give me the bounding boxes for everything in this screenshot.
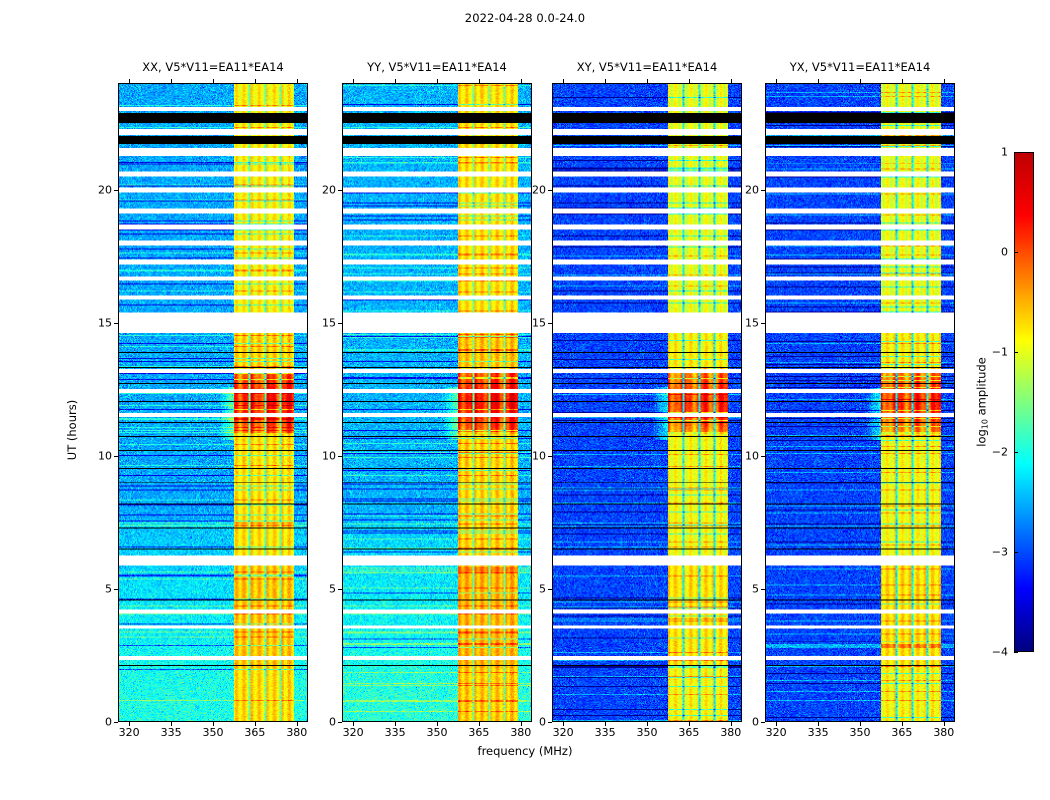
- y-tick-label: 0: [520, 716, 546, 729]
- x-tick-mark-top: [479, 79, 480, 83]
- y-tick-mark: [114, 589, 118, 590]
- y-tick-label: 0: [310, 716, 336, 729]
- y-tick-mark: [548, 722, 552, 723]
- x-tick-label: 335: [595, 726, 616, 739]
- y-tick-label: 5: [86, 582, 112, 595]
- colorbar-label-sub: 10: [981, 419, 990, 429]
- x-tick-mark: [353, 722, 354, 726]
- colorbar-tick-label: −2: [982, 446, 1008, 459]
- x-tick-mark-top: [818, 79, 819, 83]
- y-tick-mark: [548, 589, 552, 590]
- y-tick-mark: [548, 456, 552, 457]
- x-tick-label: 320: [119, 726, 140, 739]
- x-tick-mark: [297, 722, 298, 726]
- x-tick-label: 365: [244, 726, 265, 739]
- y-tick-mark: [761, 722, 765, 723]
- x-tick-label: 350: [203, 726, 224, 739]
- x-tick-mark-top: [647, 79, 648, 83]
- colorbar-tick-mark: [1014, 652, 1018, 653]
- x-tick-mark-top: [521, 79, 522, 83]
- x-tick-label: 350: [427, 726, 448, 739]
- x-tick-mark: [213, 722, 214, 726]
- x-tick-label: 350: [850, 726, 871, 739]
- y-tick-label: 0: [733, 716, 759, 729]
- x-tick-mark: [731, 722, 732, 726]
- x-tick-mark-top: [255, 79, 256, 83]
- x-tick-mark-top: [563, 79, 564, 83]
- x-tick-mark: [902, 722, 903, 726]
- y-tick-mark: [761, 190, 765, 191]
- colorbar-tick-mark: [1014, 152, 1018, 153]
- y-tick-label: 20: [733, 183, 759, 196]
- colorbar-label: log10 amplitude: [975, 357, 990, 447]
- colorbar-tick-mark: [1014, 552, 1018, 553]
- y-tick-mark: [761, 323, 765, 324]
- x-tick-mark-top: [605, 79, 606, 83]
- colorbar-tick-label: −1: [982, 346, 1008, 359]
- y-tick-mark: [338, 456, 342, 457]
- y-tick-mark: [548, 323, 552, 324]
- y-tick-label: 5: [520, 582, 546, 595]
- x-tick-mark-top: [776, 79, 777, 83]
- x-tick-mark-top: [297, 79, 298, 83]
- figure-canvas: 2022-04-28 0.0-24.0 XX, V5*V11=EA11*EA14…: [0, 0, 1050, 800]
- colorbar-tick-label: 1: [982, 146, 1008, 159]
- panel-title-yy: YY, V5*V11=EA11*EA14: [342, 60, 532, 74]
- y-tick-label: 5: [310, 582, 336, 595]
- y-tick-label: 15: [86, 316, 112, 329]
- y-tick-mark: [761, 589, 765, 590]
- panel-title-yx: YX, V5*V11=EA11*EA14: [765, 60, 955, 74]
- heatmap-panel-yx: [765, 83, 955, 722]
- y-tick-label: 10: [86, 449, 112, 462]
- colorbar-tick-label: −3: [982, 546, 1008, 559]
- x-tick-mark-top: [129, 79, 130, 83]
- x-tick-mark: [479, 722, 480, 726]
- x-tick-mark-top: [213, 79, 214, 83]
- x-tick-mark: [647, 722, 648, 726]
- colorbar-tick-label: 0: [982, 246, 1008, 259]
- x-tick-label: 380: [286, 726, 307, 739]
- x-tick-label: 380: [933, 726, 954, 739]
- x-tick-mark: [129, 722, 130, 726]
- y-tick-label: 5: [733, 582, 759, 595]
- y-tick-label: 10: [520, 449, 546, 462]
- x-tick-mark-top: [731, 79, 732, 83]
- y-tick-label: 0: [86, 716, 112, 729]
- colorbar-tick-mark: [1014, 352, 1018, 353]
- y-tick-mark: [338, 190, 342, 191]
- y-tick-mark: [338, 722, 342, 723]
- x-tick-mark-top: [437, 79, 438, 83]
- x-tick-mark: [255, 722, 256, 726]
- y-tick-label: 20: [520, 183, 546, 196]
- y-tick-label: 20: [86, 183, 112, 196]
- x-tick-mark-top: [171, 79, 172, 83]
- heatmap-panel-yy: [342, 83, 532, 722]
- x-tick-label: 335: [161, 726, 182, 739]
- x-tick-label: 350: [637, 726, 658, 739]
- y-tick-mark: [548, 190, 552, 191]
- x-tick-mark: [605, 722, 606, 726]
- y-tick-mark: [114, 722, 118, 723]
- figure-suptitle: 2022-04-28 0.0-24.0: [0, 11, 1050, 25]
- x-axis-label: frequency (MHz): [0, 744, 1050, 758]
- colorbar-tick-label: −4: [982, 646, 1008, 659]
- panel-title-xx: XX, V5*V11=EA11*EA14: [118, 60, 308, 74]
- y-tick-mark: [761, 456, 765, 457]
- y-tick-mark: [114, 456, 118, 457]
- x-tick-mark-top: [689, 79, 690, 83]
- x-tick-mark: [944, 722, 945, 726]
- x-tick-label: 320: [553, 726, 574, 739]
- x-tick-mark: [860, 722, 861, 726]
- x-tick-label: 335: [808, 726, 829, 739]
- y-tick-label: 10: [733, 449, 759, 462]
- y-tick-label: 10: [310, 449, 336, 462]
- y-tick-mark: [338, 589, 342, 590]
- colorbar-label-prefix: log: [975, 429, 989, 447]
- y-axis-label: UT (hours): [65, 400, 79, 460]
- y-tick-label: 15: [520, 316, 546, 329]
- x-tick-mark: [437, 722, 438, 726]
- x-tick-mark: [395, 722, 396, 726]
- colorbar-label-suffix: amplitude: [975, 357, 989, 419]
- x-tick-mark: [776, 722, 777, 726]
- colorbar: [1014, 152, 1034, 652]
- x-tick-label: 320: [343, 726, 364, 739]
- y-tick-mark: [114, 323, 118, 324]
- colorbar-tick-mark: [1014, 452, 1018, 453]
- x-tick-mark-top: [860, 79, 861, 83]
- colorbar-tick-mark: [1014, 252, 1018, 253]
- x-tick-mark: [563, 722, 564, 726]
- x-tick-mark: [171, 722, 172, 726]
- y-tick-mark: [114, 190, 118, 191]
- x-tick-mark: [689, 722, 690, 726]
- x-tick-mark-top: [944, 79, 945, 83]
- x-tick-label: 365: [678, 726, 699, 739]
- heatmap-panel-xx: [118, 83, 308, 722]
- x-tick-mark: [818, 722, 819, 726]
- x-tick-mark-top: [902, 79, 903, 83]
- x-tick-mark-top: [395, 79, 396, 83]
- x-tick-label: 365: [891, 726, 912, 739]
- x-tick-label: 365: [468, 726, 489, 739]
- x-tick-label: 320: [766, 726, 787, 739]
- x-tick-mark-top: [353, 79, 354, 83]
- y-tick-label: 15: [310, 316, 336, 329]
- x-tick-label: 335: [385, 726, 406, 739]
- panel-title-xy: XY, V5*V11=EA11*EA14: [552, 60, 742, 74]
- heatmap-panel-xy: [552, 83, 742, 722]
- y-tick-label: 20: [310, 183, 336, 196]
- y-tick-label: 15: [733, 316, 759, 329]
- y-tick-mark: [338, 323, 342, 324]
